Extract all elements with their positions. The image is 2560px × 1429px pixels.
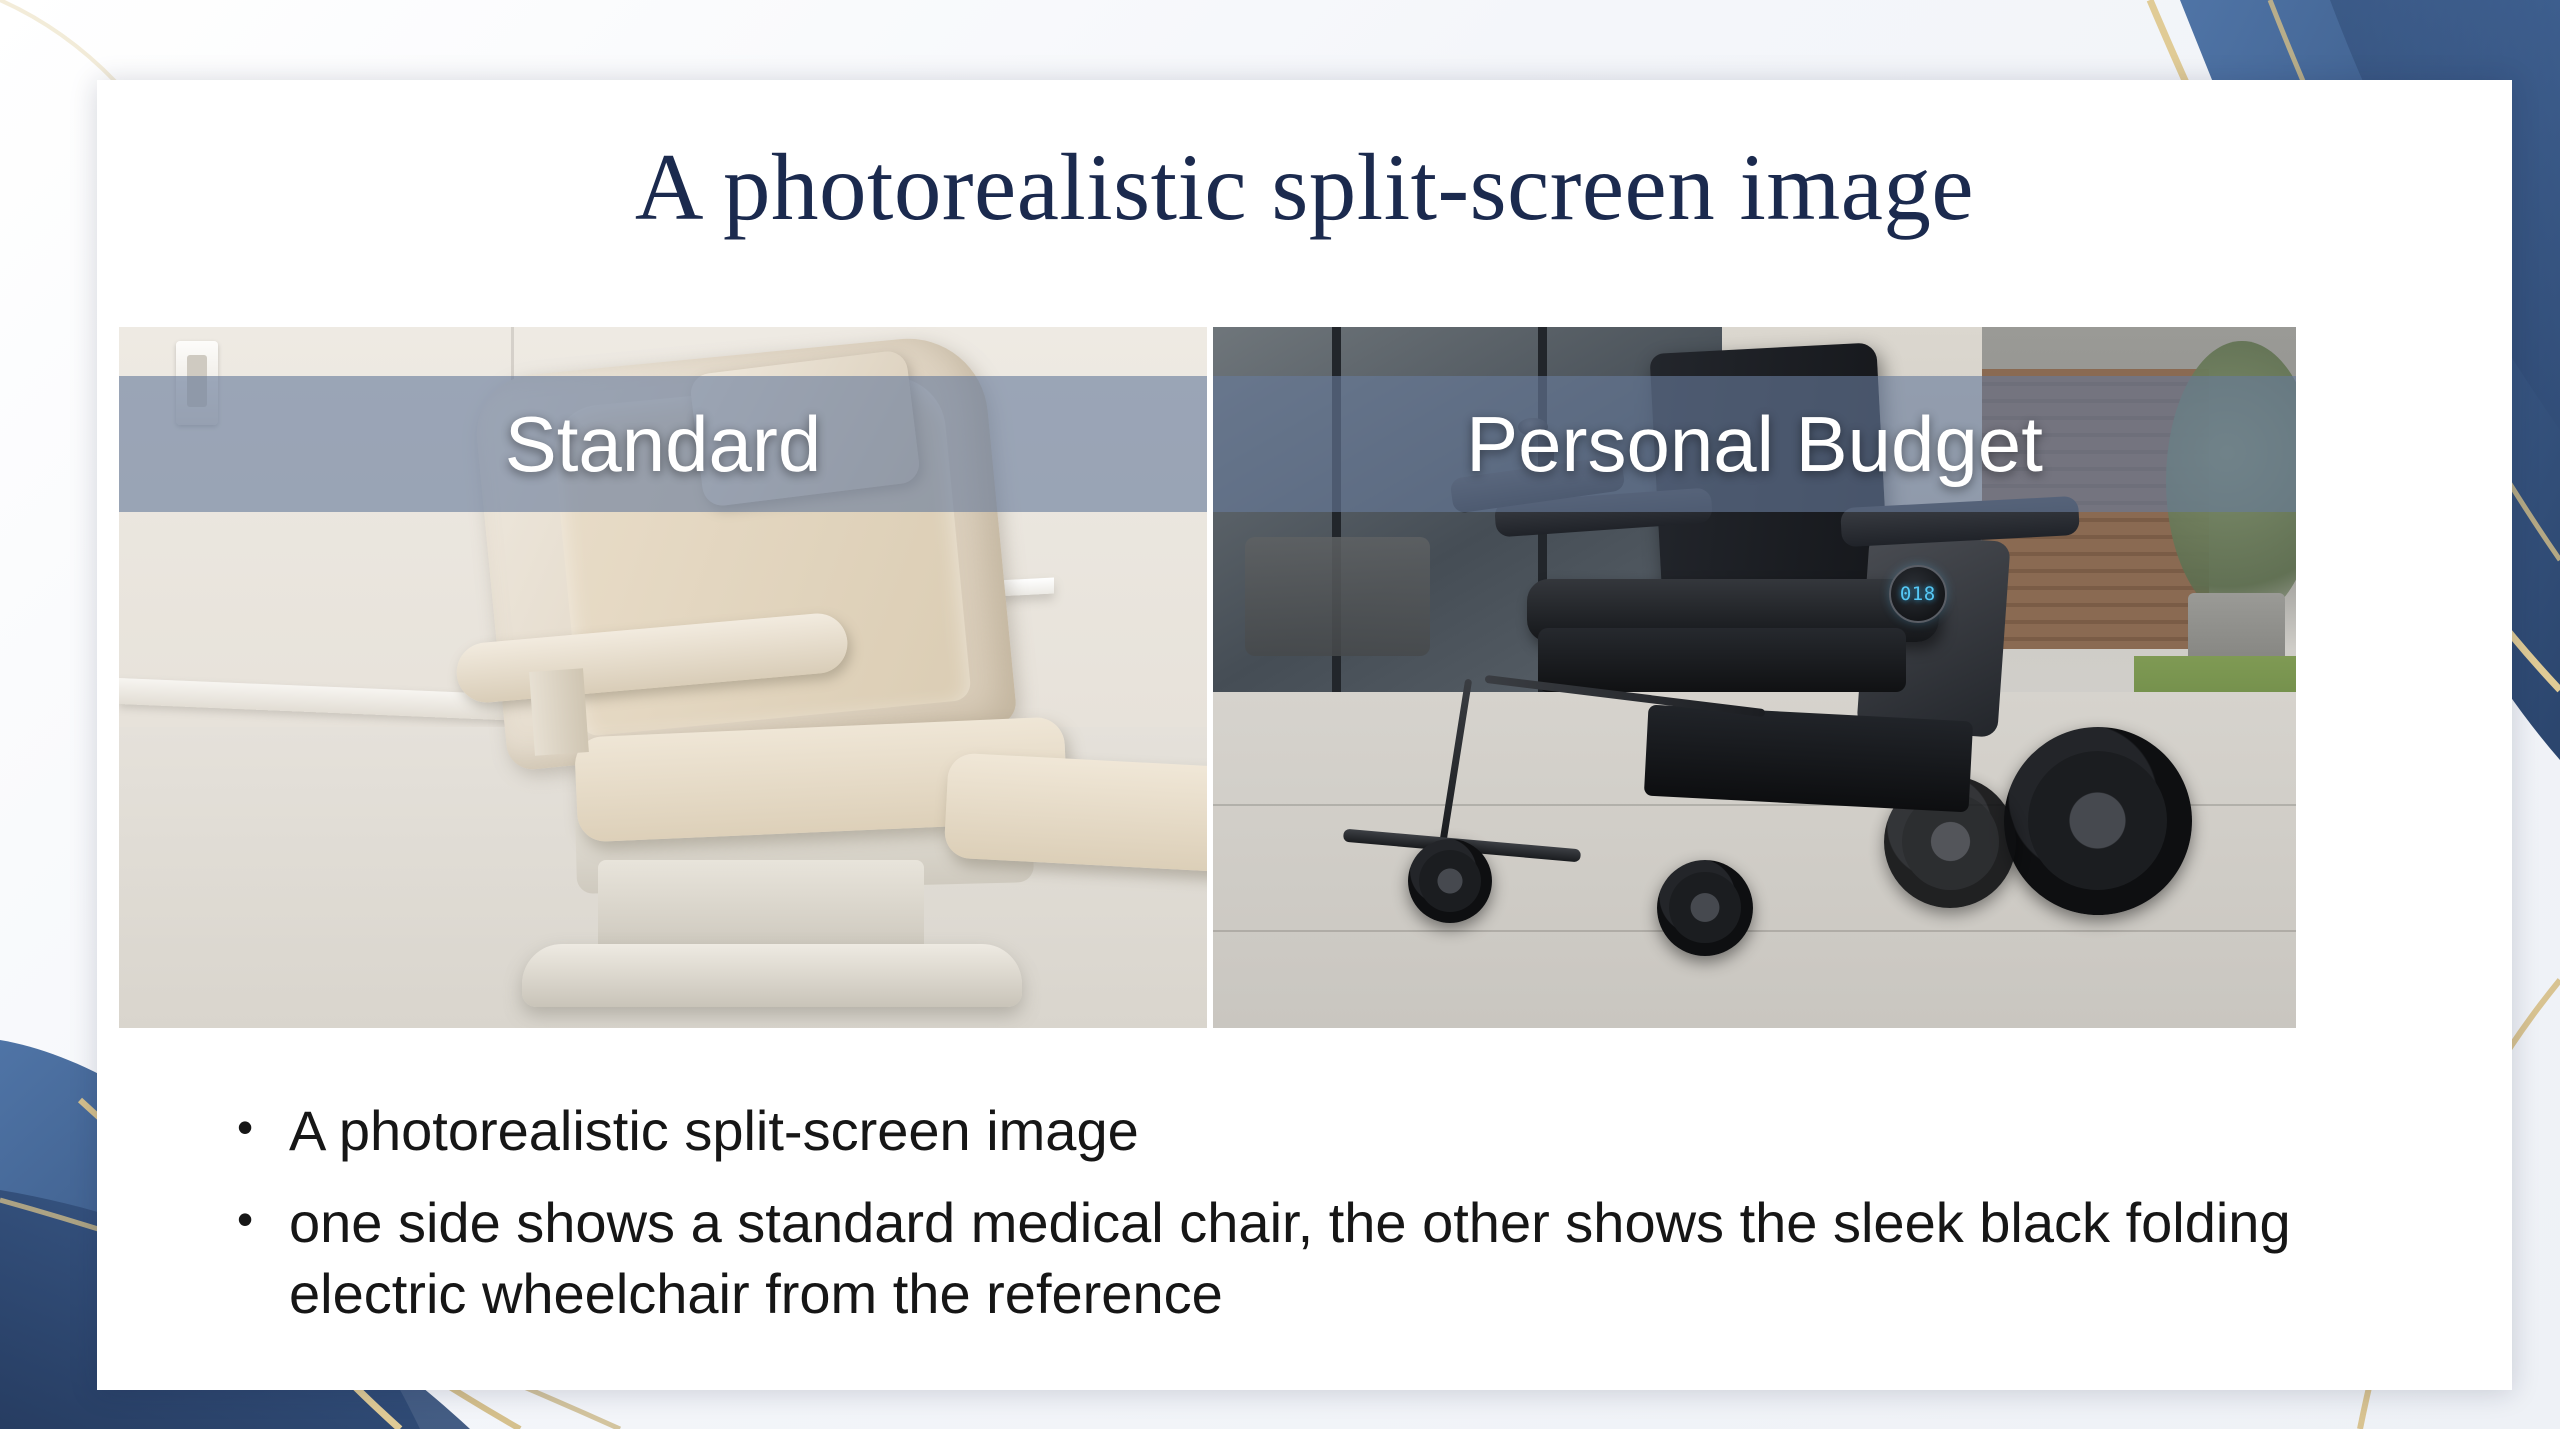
patio-sofa	[1245, 537, 1429, 656]
chair-legrest	[943, 752, 1207, 876]
bullet-marker-icon: •	[237, 1187, 289, 1252]
wheelchair-front-caster-left	[1408, 839, 1492, 923]
label-band-standard: Standard	[119, 376, 1207, 512]
slide-card: A photorealistic split-screen image	[97, 80, 2512, 1390]
wheelchair-display-value: 018	[1900, 583, 1936, 605]
wheelchair-display: 018	[1889, 565, 1947, 623]
wheelchair-front-caster-right	[1657, 860, 1753, 956]
wheelchair-seat-pan	[1538, 628, 1906, 691]
chair-base	[522, 944, 1022, 1007]
bullet-text: A photorealistic split-screen image	[289, 1095, 2397, 1167]
wheelchair-battery-box	[1644, 704, 1973, 812]
paving-seam-2	[1213, 930, 2296, 932]
list-item: • one side shows a standard medical chai…	[237, 1187, 2397, 1330]
panel-personal-budget[interactable]: 018 Personal Budget	[1213, 327, 2296, 1028]
panel-standard[interactable]: Standard	[119, 327, 1207, 1028]
bullet-list: • A photorealistic split-screen image • …	[237, 1095, 2397, 1350]
panel-label-standard: Standard	[505, 405, 822, 483]
page-title: A photorealistic split-screen image	[97, 138, 2512, 238]
list-item: • A photorealistic split-screen image	[237, 1095, 2397, 1167]
bullet-marker-icon: •	[237, 1095, 289, 1160]
wheelchair-rear-wheel	[2004, 727, 2192, 915]
bullet-text: one side shows a standard medical chair,…	[289, 1187, 2397, 1330]
chair-armrest-post	[530, 669, 590, 757]
split-screen-image: Standard	[119, 327, 2296, 1028]
panel-label-personal-budget: Personal Budget	[1466, 405, 2043, 483]
label-band-personal-budget: Personal Budget	[1213, 376, 2296, 512]
